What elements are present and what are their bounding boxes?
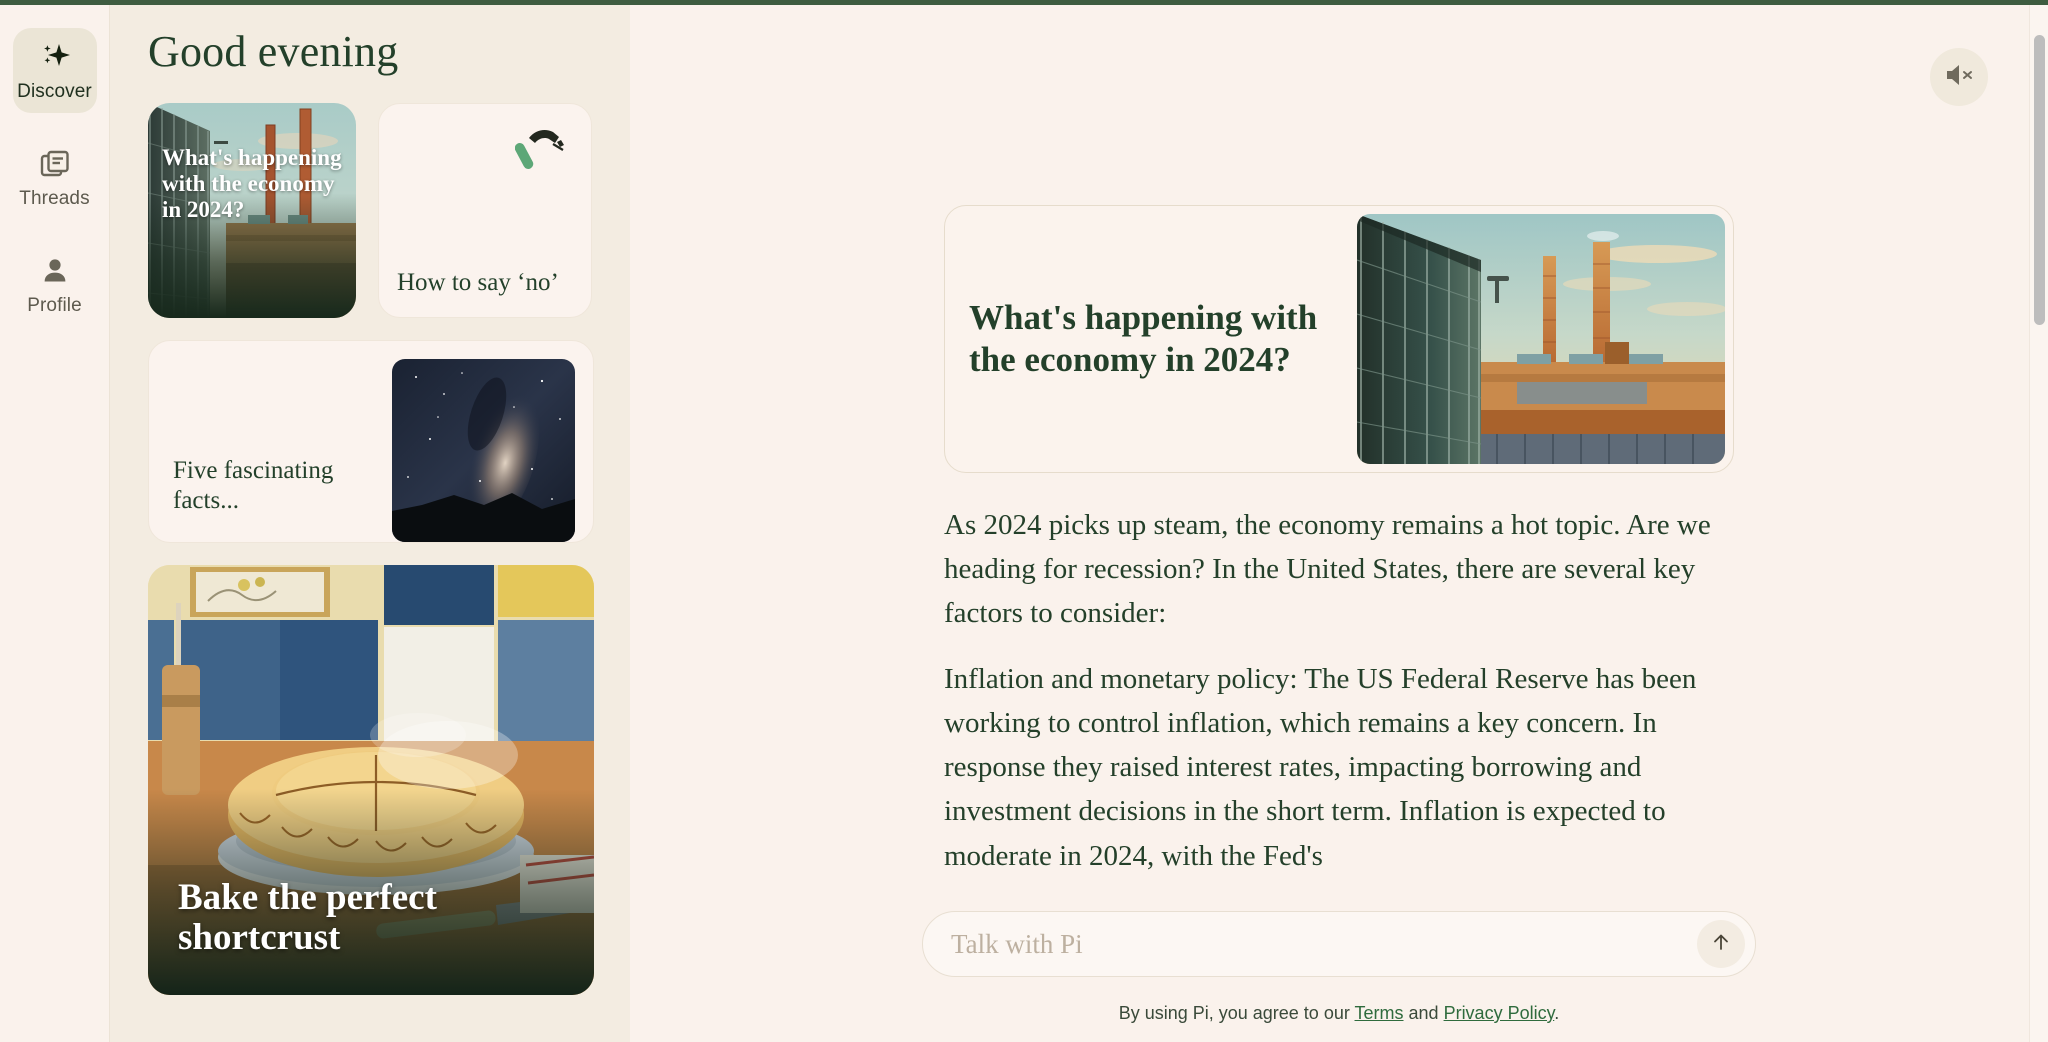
- discover-card-economy[interactable]: What's happening with the economy in 202…: [148, 103, 356, 318]
- top-accent-strip: [0, 0, 2048, 5]
- message-input[interactable]: [951, 929, 1697, 960]
- message-composer[interactable]: [922, 911, 1756, 977]
- discover-panel: Good evening: [110, 0, 630, 1042]
- sidebar-item-profile[interactable]: Profile: [13, 242, 97, 327]
- discover-card-title: How to say ‘no’: [397, 269, 573, 301]
- privacy-policy-link[interactable]: Privacy Policy: [1444, 1003, 1555, 1023]
- app-root: Discover Threads Profile: [0, 0, 2048, 1042]
- discover-card-row: What's happening with the economy in 202…: [148, 103, 596, 318]
- hammer-icon: [515, 126, 567, 177]
- legal-suffix: .: [1554, 1003, 1559, 1023]
- legal-prefix: By using Pi, you agree to our: [1119, 1003, 1355, 1023]
- documents-stack-icon: [38, 147, 72, 181]
- sparkle-icon: [38, 40, 72, 74]
- glass-facade-factory-photo: [1357, 214, 1725, 464]
- mute-toggle-button[interactable]: [1930, 48, 1988, 106]
- sidebar-item-discover[interactable]: Discover: [13, 28, 97, 113]
- discover-card-shortcrust[interactable]: Bake the perfect shortcrust: [148, 565, 594, 995]
- sidebar-item-label: Threads: [19, 188, 89, 210]
- person-icon: [38, 254, 72, 288]
- discover-card-list: What's happening with the economy in 202…: [148, 103, 596, 995]
- sidebar-item-threads[interactable]: Threads: [13, 135, 97, 220]
- legal-disclaimer: By using Pi, you agree to our Terms and …: [1119, 1003, 1560, 1024]
- discover-card-five-facts[interactable]: Five fascinating facts...: [148, 340, 594, 543]
- milky-way-night-sky-photo: [392, 359, 575, 542]
- primary-nav-rail: Discover Threads Profile: [0, 0, 110, 1042]
- legal-middle: and: [1404, 1003, 1444, 1023]
- discover-card-title: Bake the perfect shortcrust: [178, 878, 572, 959]
- topic-hero-text: What's happening with the economy in 202…: [953, 214, 1357, 464]
- vertical-scrollbar[interactable]: [2029, 5, 2048, 1042]
- terms-link[interactable]: Terms: [1355, 1003, 1404, 1023]
- discover-card-say-no[interactable]: How to say ‘no’: [378, 103, 592, 318]
- answer-paragraph: As 2024 picks up steam, the economy rema…: [944, 503, 1734, 635]
- scrollbar-thumb[interactable]: [2034, 35, 2045, 325]
- topic-title: What's happening with the economy in 202…: [969, 297, 1343, 381]
- sidebar-item-label: Discover: [17, 81, 92, 103]
- sidebar-item-label: Profile: [27, 295, 82, 317]
- discover-card-title: Five fascinating facts...: [167, 456, 377, 524]
- answer-body: As 2024 picks up steam, the economy rema…: [944, 503, 1734, 878]
- main-conversation-area: What's happening with the economy in 202…: [630, 0, 2048, 1042]
- arrow-up-icon: [1710, 931, 1732, 958]
- discover-card-title: What's happening with the economy in 202…: [162, 145, 346, 224]
- speaker-muted-icon: [1944, 62, 1974, 93]
- answer-paragraph: Inflation and monetary policy: The US Fe…: [944, 657, 1734, 877]
- composer-area: By using Pi, you agree to our Terms and …: [630, 911, 2048, 1042]
- topic-hero-card[interactable]: What's happening with the economy in 202…: [944, 205, 1734, 473]
- conversation-thread: What's happening with the economy in 202…: [944, 205, 1734, 878]
- page-title: Good evening: [148, 26, 596, 77]
- send-button[interactable]: [1697, 920, 1745, 968]
